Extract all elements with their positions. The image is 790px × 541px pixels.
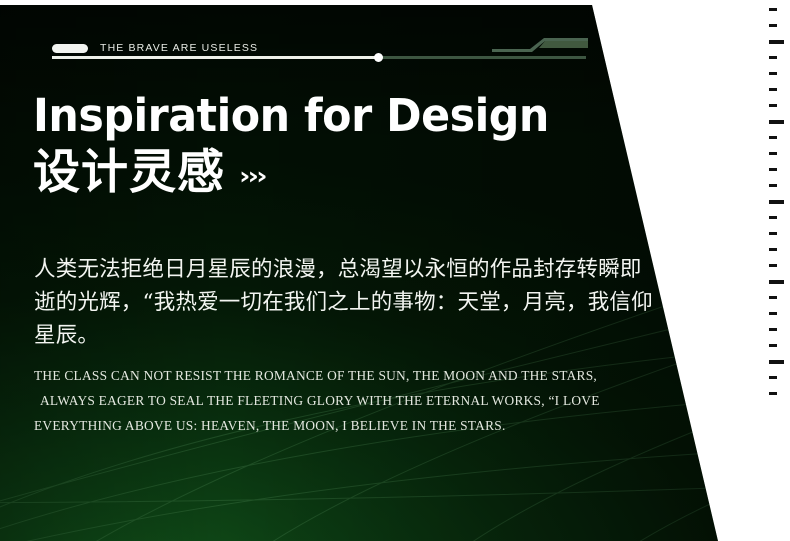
ruler-tick-minor bbox=[769, 328, 777, 331]
eyebrow-row: THE BRAVE ARE USELESS bbox=[52, 41, 258, 55]
ruler-tick-minor bbox=[769, 312, 777, 315]
ruler-tick-minor bbox=[769, 296, 777, 299]
ruler-tick-minor bbox=[769, 184, 777, 187]
poster-canvas: THE BRAVE ARE USELESS Inspiration for De… bbox=[0, 0, 790, 541]
progress-rule-filled bbox=[52, 56, 380, 59]
ruler-tick-minor bbox=[769, 152, 777, 155]
progress-rule-track bbox=[380, 56, 586, 59]
progress-rule[interactable] bbox=[52, 56, 586, 59]
body-english-line: ALWAYS EAGER TO SEAL THE FLEETING GLORY … bbox=[34, 388, 634, 413]
ruler-tick-minor bbox=[769, 264, 777, 267]
ruler-tick-major bbox=[769, 40, 784, 44]
ruler-tick-minor bbox=[769, 248, 777, 251]
ruler-tick-minor bbox=[769, 104, 777, 107]
ruler-tick-major bbox=[769, 200, 784, 204]
ruler-tick-minor bbox=[769, 344, 777, 347]
ruler-tick-minor bbox=[769, 56, 777, 59]
ruler-tick-minor bbox=[769, 232, 777, 235]
body-paragraph-english: THE CLASS CAN NOT RESIST THE ROMANCE OF … bbox=[34, 363, 634, 438]
chevron-right-triple-icon: ››› bbox=[239, 165, 265, 194]
ruler-tick-minor bbox=[769, 24, 777, 27]
ruler-tick-minor bbox=[769, 392, 777, 395]
body-paragraph-chinese: 人类无法拒绝日月星辰的浪漫，总渴望以永恒的作品封存转瞬即逝的光辉，“我热爱一切在… bbox=[34, 253, 659, 352]
ruler-tick-major bbox=[769, 360, 784, 364]
page-title-chinese-row: 设计灵感 ››› bbox=[33, 149, 265, 196]
vertical-ruler-icon bbox=[769, 8, 790, 408]
eyebrow-label: THE BRAVE ARE USELESS bbox=[100, 43, 258, 54]
page-title-chinese: 设计灵感 bbox=[33, 149, 225, 196]
ruler-tick-minor bbox=[769, 168, 777, 171]
ruler-tick-minor bbox=[769, 88, 777, 91]
ruler-tick-major bbox=[769, 280, 784, 284]
hero-panel: THE BRAVE ARE USELESS Inspiration for De… bbox=[0, 5, 760, 541]
progress-handle-dot-icon[interactable] bbox=[374, 53, 383, 62]
pill-marker-icon bbox=[52, 44, 88, 53]
ruler-tick-minor bbox=[769, 8, 777, 11]
ruler-tick-minor bbox=[769, 376, 777, 379]
ruler-tick-major bbox=[769, 120, 784, 124]
ruler-tick-minor bbox=[769, 72, 777, 75]
body-english-line: EVERYTHING ABOVE US: HEAVEN, THE MOON, I… bbox=[34, 413, 634, 438]
body-english-line: THE CLASS CAN NOT RESIST THE ROMANCE OF … bbox=[34, 363, 634, 388]
ruler-tick-minor bbox=[769, 216, 777, 219]
page-title-english: Inspiration for Design bbox=[33, 93, 549, 138]
stepped-bracket-decoration-icon bbox=[492, 36, 588, 54]
ruler-tick-minor bbox=[769, 136, 777, 139]
